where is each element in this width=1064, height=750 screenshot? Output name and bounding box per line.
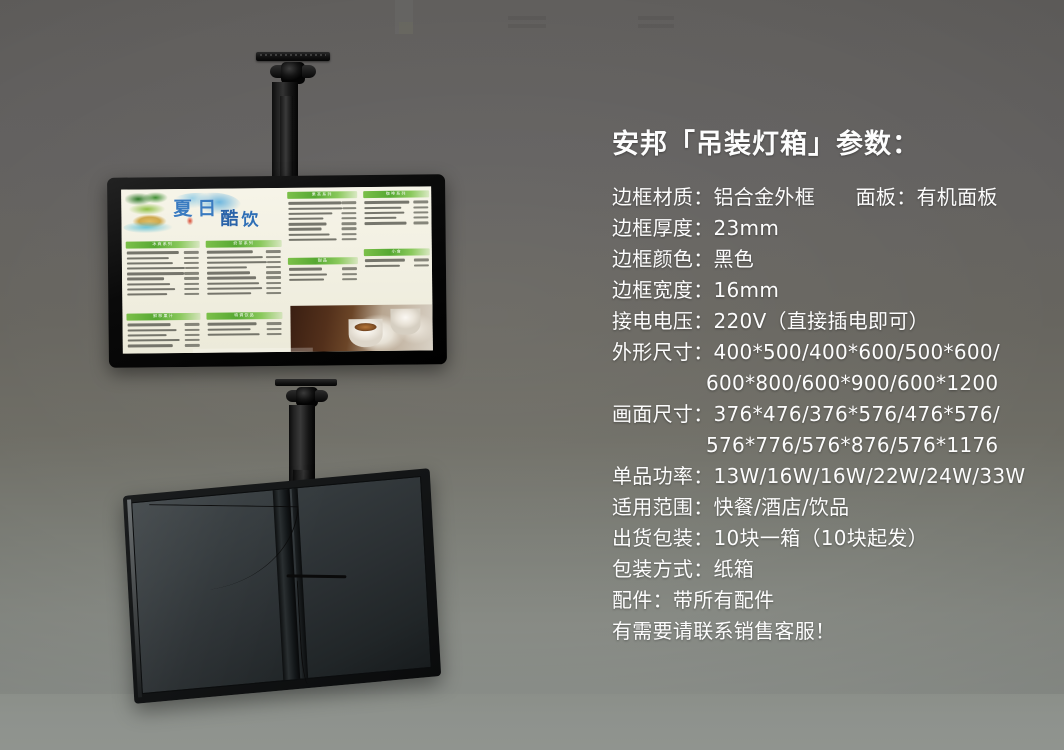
spec-line: 接电电压：220V（直接插电即可） — [612, 306, 1052, 337]
rear-panel-surface — [131, 476, 432, 694]
menu-item-price — [266, 287, 281, 290]
menu-item-name — [207, 282, 259, 285]
menu-item-name — [128, 344, 173, 347]
menu-section-header-label: 鲜榨果汁 — [153, 314, 174, 318]
menu-section-header-label: 特调饮品 — [234, 313, 255, 317]
menu-item-name — [288, 202, 341, 205]
menu-item-name — [127, 257, 169, 260]
spec-line: 画面尺寸：376*476/376*576/476*576/ — [612, 399, 1052, 430]
menu-item-price — [185, 267, 199, 270]
menu-section-header: 鲜榨果汁 — [126, 313, 200, 321]
menu-item-price — [342, 278, 357, 281]
menu-item-name — [289, 278, 324, 281]
menu-column-5: 鲜榨果汁 — [126, 313, 200, 349]
menu-item-price — [185, 339, 200, 342]
menu-title-char-3: 酷 — [220, 210, 238, 228]
menu-column-6: 特调饮品 — [206, 312, 282, 337]
menu-item-name — [364, 222, 406, 225]
menu-footer-strip — [193, 348, 313, 353]
lightbox-menu-panel: 夏 日 酷 饮 冰爽系列 奶茶系列 果茶系列 咖啡系列 鲜榨果汁 特调饮品 甜品… — [121, 186, 433, 353]
menu-section-header: 果茶系列 — [287, 191, 357, 199]
menu-item-price — [341, 212, 356, 215]
menu-item-price — [266, 266, 281, 269]
menu-item-price — [414, 259, 429, 262]
menu-item-name — [364, 211, 404, 214]
menu-item-price — [185, 334, 200, 337]
menu-item-row — [288, 236, 358, 242]
menu-item-name — [207, 261, 267, 264]
menu-item-price — [267, 333, 282, 336]
menu-item-row — [127, 343, 201, 349]
menu-item-name — [127, 272, 184, 275]
ceiling-band — [508, 24, 546, 28]
menu-item-price — [413, 222, 428, 225]
ceiling-band — [638, 24, 674, 28]
menu-section-header: 冰爽系列 — [126, 241, 200, 249]
menu-item-name — [128, 329, 177, 332]
menu-item-name — [128, 334, 167, 337]
menu-item-name — [207, 251, 253, 254]
menu-item-name — [288, 217, 323, 220]
menu-item-name — [289, 273, 327, 276]
menu-item-name — [128, 324, 171, 327]
spec-line: 包装方式：纸箱 — [612, 554, 1052, 585]
menu-item-name — [289, 228, 322, 231]
menu-item-price — [342, 207, 356, 210]
lightbox-rear-panel — [123, 468, 441, 704]
menu-item-name — [289, 233, 330, 236]
menu-item-price — [414, 264, 429, 267]
menu-item-name — [208, 323, 257, 326]
menu-item-name — [207, 271, 250, 274]
menu-item-name — [127, 288, 175, 291]
spec-list: 边框材质：铝合金外框 面板：有机面板边框厚度：23mm边框颜色：黑色边框宽度：1… — [612, 182, 1052, 647]
spec-line: 单品功率：13W/16W/16W/22W/24W/33W — [612, 461, 1052, 492]
menu-item-row — [364, 263, 430, 269]
spec-line: 适用范围：快餐/酒店/饮品 — [612, 492, 1052, 523]
menu-item-name — [207, 287, 262, 290]
mount-pole-upper-inner — [280, 96, 293, 188]
menu-title-char-2: 日 — [197, 200, 216, 219]
menu-item-price — [341, 222, 356, 225]
spec-line: 外形尺寸：400*500/400*600/500*600/ — [612, 337, 1052, 368]
ceiling-band — [508, 16, 546, 20]
menu-item-price — [184, 288, 199, 291]
menu-item-price — [184, 272, 199, 275]
menu-item-price — [342, 268, 357, 271]
spec-line: 576*776/576*876/576*1176 — [612, 430, 1052, 461]
spec-title: 安邦「吊装灯箱」参数： — [612, 122, 1052, 161]
menu-item-price — [184, 277, 199, 280]
menu-item-name — [128, 339, 180, 342]
menu-item-price — [267, 322, 282, 325]
menu-section-header-label: 奶茶系列 — [233, 241, 254, 245]
spec-line: 配件：带所有配件 — [612, 585, 1052, 616]
spec-line: 边框材质：铝合金外框 面板：有机面板 — [612, 182, 1052, 213]
menu-item-row — [206, 290, 282, 296]
red-accent-icon — [185, 215, 194, 227]
menu-item-price — [267, 261, 281, 264]
menu-item-price — [341, 202, 356, 205]
menu-item-name — [364, 206, 401, 209]
menu-item-name — [127, 262, 173, 265]
menu-section-header: 小食 — [364, 248, 430, 256]
coffee-cup-secondary-icon — [390, 309, 420, 335]
menu-item-price — [342, 273, 357, 276]
specification-block: 安邦「吊装灯箱」参数： 边框材质：铝合金外框 面板：有机面板边框厚度：23mm边… — [612, 122, 1052, 647]
menu-column-2: 奶茶系列 — [206, 240, 283, 296]
menu-item-row — [126, 291, 200, 297]
menu-item-name — [365, 259, 405, 262]
spec-line: 边框颜色：黑色 — [612, 244, 1052, 275]
coffee-photo — [290, 304, 432, 351]
menu-item-price — [185, 344, 200, 347]
menu-item-name — [207, 266, 247, 269]
menu-item-price — [341, 217, 356, 220]
menu-section-header-label: 甜品 — [318, 258, 328, 262]
menu-item-name — [207, 256, 263, 259]
menu-item-name — [208, 328, 251, 331]
menu-item-name — [365, 264, 400, 267]
menu-column-8: 小食 — [364, 248, 430, 268]
menu-item-name — [289, 268, 322, 271]
menu-item-price — [342, 233, 357, 236]
menu-item-row — [363, 220, 429, 226]
menu-item-price — [184, 262, 199, 265]
menu-item-price — [266, 271, 281, 274]
menu-item-name — [127, 293, 167, 296]
menu-item-name — [364, 201, 409, 204]
menu-item-price — [184, 293, 199, 296]
menu-item-price — [266, 276, 281, 279]
menu-item-price — [184, 251, 199, 254]
menu-item-price — [185, 323, 200, 326]
ceiling-band — [638, 16, 674, 20]
menu-item-name — [207, 277, 256, 280]
menu-section-header: 特调饮品 — [206, 312, 282, 320]
menu-item-price — [413, 201, 428, 204]
menu-item-name — [127, 251, 179, 254]
menu-item-price — [266, 281, 281, 284]
menu-item-price — [342, 238, 357, 241]
ceiling-column-shadow — [399, 22, 413, 34]
menu-item-name — [364, 217, 396, 220]
menu-item-price — [413, 211, 428, 214]
menu-item-price — [266, 250, 281, 253]
menu-item-name — [288, 223, 326, 226]
menu-item-price — [266, 292, 281, 295]
menu-title-char-4: 饮 — [241, 212, 258, 229]
menu-section-header-label: 小食 — [392, 250, 402, 254]
menu-item-price — [267, 328, 282, 331]
menu-item-name — [288, 212, 332, 215]
menu-section-header-label: 果茶系列 — [312, 192, 333, 196]
menu-item-price — [184, 282, 199, 285]
spec-line: 600*800/600*900/600*1200 — [612, 368, 1052, 399]
spec-line: 边框宽度：16mm — [612, 275, 1052, 306]
menu-section-header-label: 咖啡系列 — [386, 192, 407, 196]
menu-column-4: 咖啡系列 — [363, 190, 429, 226]
menu-section-header-label: 冰爽系列 — [152, 242, 173, 246]
joint-ear-right — [302, 65, 316, 78]
spec-line: 边框厚度：23mm — [612, 213, 1052, 244]
menu-item-price — [413, 216, 428, 219]
menu-item-price — [413, 206, 428, 209]
menu-section-header: 奶茶系列 — [206, 240, 282, 248]
menu-item-price — [266, 256, 281, 259]
menu-item-name — [127, 278, 164, 281]
menu-item-name — [289, 238, 337, 241]
menu-hero-banner: 夏 日 酷 饮 — [123, 190, 281, 238]
menu-section-header: 甜品 — [288, 257, 358, 265]
menu-item-price — [184, 256, 199, 259]
menu-item-name — [208, 333, 260, 336]
spec-line: 出货包装：10块一箱（10块起发） — [612, 523, 1052, 554]
menu-column-7: 甜品 — [288, 257, 358, 282]
hanging-lightbox-front: 夏 日 酷 饮 冰爽系列 奶茶系列 果茶系列 咖啡系列 鲜榨果汁 特调饮品 甜品… — [107, 174, 447, 368]
product-photo-scene: 夏 日 酷 饮 冰爽系列 奶茶系列 果茶系列 咖啡系列 鲜榨果汁 特调饮品 甜品… — [0, 0, 1064, 750]
menu-item-name — [127, 283, 170, 286]
menu-section-header: 咖啡系列 — [363, 190, 429, 198]
joint-ear-right — [315, 390, 328, 402]
menu-item-name — [127, 267, 185, 270]
menu-item-price — [185, 328, 200, 331]
spec-line: 有需要请联系销售客服！ — [612, 616, 1052, 647]
floor — [0, 694, 1064, 750]
menu-item-price — [342, 227, 357, 230]
menu-item-row — [288, 277, 358, 283]
menu-item-row — [207, 331, 283, 337]
menu-artwork: 夏 日 酷 饮 冰爽系列 奶茶系列 果茶系列 咖啡系列 鲜榨果汁 特调饮品 甜品… — [121, 186, 433, 353]
menu-item-name — [288, 207, 342, 210]
menu-item-name — [207, 292, 251, 295]
menu-column-3: 果茶系列 — [287, 191, 358, 242]
menu-column-1: 冰爽系列 — [126, 241, 201, 297]
